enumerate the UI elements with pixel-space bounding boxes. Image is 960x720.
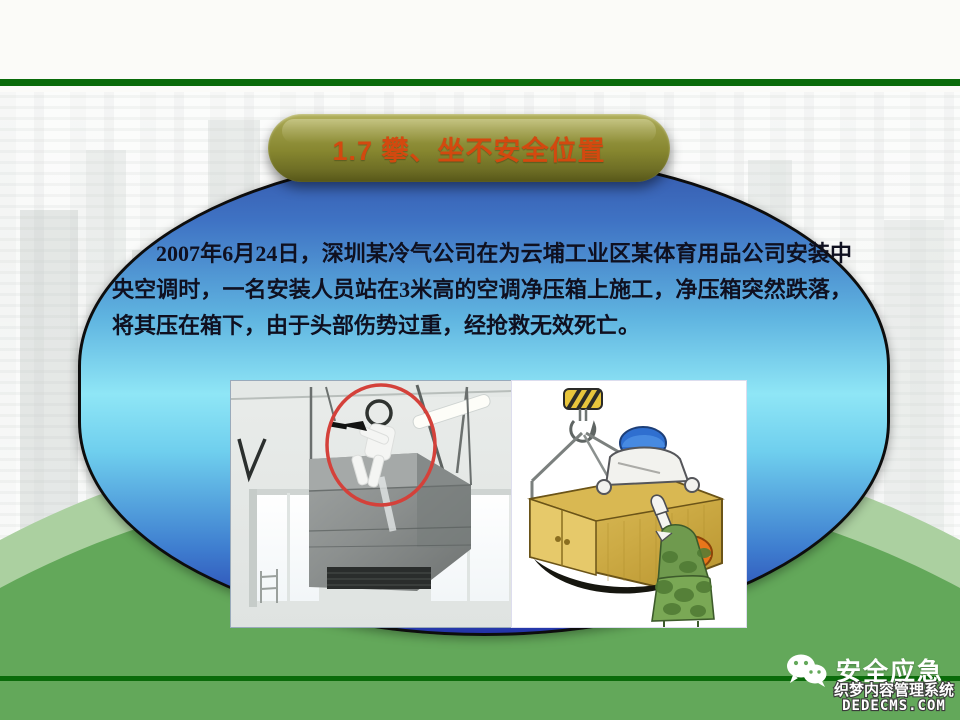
header-green-rule: [0, 79, 960, 86]
slide-title-banner: 1.7 攀、坐不安全位置: [268, 114, 670, 182]
slide-body-text: 2007年6月24日，深圳某冷气公司在为云埔工业区某体育用品公司安装中央空调时，…: [112, 236, 852, 344]
slide-root: 1.7 攀、坐不安全位置 2007年6月24日，深圳某冷气公司在为云埔工业区某体…: [0, 0, 960, 720]
watermark-line-1: 织梦内容管理系统: [834, 683, 954, 698]
photo-cartoon-illustration-image: [512, 381, 746, 627]
wechat-icon: [786, 653, 828, 687]
photo-accident-site: [230, 380, 513, 628]
photo-accident-site-image: [231, 381, 512, 627]
watermark-line-2: DEDECMS.COM: [834, 699, 954, 713]
photo-cartoon-illustration: [511, 380, 747, 628]
page-title: 1.7 攀、坐不安全位置: [332, 129, 605, 168]
site-watermark: 织梦内容管理系统 DEDECMS.COM: [834, 683, 954, 713]
